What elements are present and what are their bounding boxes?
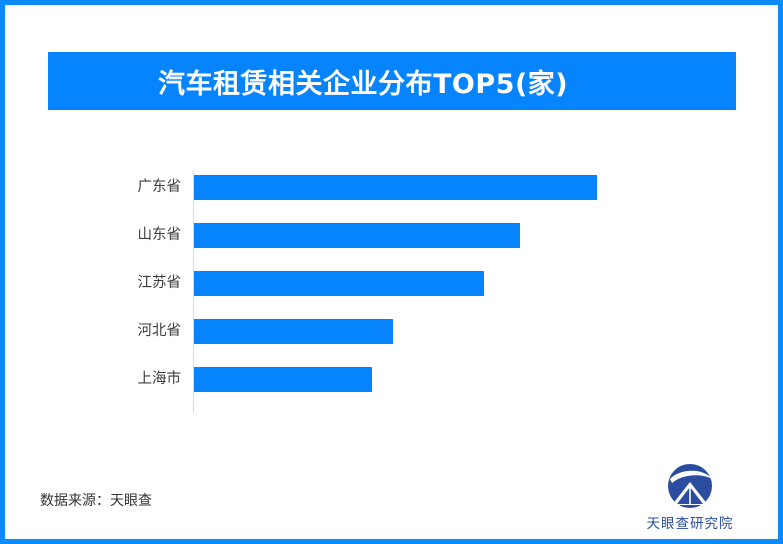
data-source-note: 数据来源：天眼查 [40, 490, 152, 510]
bar-track [194, 271, 484, 296]
frame-border-left [0, 0, 5, 544]
bar-fill[interactable] [194, 367, 372, 392]
bar-category-label: 山东省 [48, 223, 181, 248]
tianyancha-eye-logo-icon [664, 463, 716, 509]
bar-fill[interactable] [194, 319, 393, 344]
bar-track [194, 319, 393, 344]
bar-row: 山东省 [48, 223, 736, 248]
frame-border-right [778, 0, 783, 544]
bar-fill[interactable] [194, 223, 520, 248]
bar-category-label: 广东省 [48, 175, 181, 200]
bar-row: 上海市 [48, 367, 736, 392]
frame-border-top [0, 0, 783, 5]
bar-chart: 广东省山东省江苏省河北省上海市 [48, 160, 736, 410]
bar-track [194, 223, 520, 248]
infographic-root: 汽车租赁相关企业分布TOP5(家) 广东省山东省江苏省河北省上海市 数据来源：天… [0, 0, 783, 544]
bar-track [194, 367, 372, 392]
brand-name-label: 天眼查研究院 [647, 512, 734, 532]
bar-category-label: 河北省 [48, 319, 181, 344]
page-title: 汽车租赁相关企业分布TOP5(家) [158, 62, 568, 101]
bar-fill[interactable] [194, 271, 484, 296]
bar-row: 河北省 [48, 319, 736, 344]
brand-logo: 天眼查研究院 [625, 454, 755, 532]
bar-series-container: 广东省山东省江苏省河北省上海市 [48, 160, 736, 410]
bar-category-label: 上海市 [48, 367, 181, 392]
frame-border-bottom [0, 539, 783, 544]
chart-title-banner: 汽车租赁相关企业分布TOP5(家) [48, 52, 736, 110]
bar-fill[interactable] [194, 175, 597, 200]
bar-track [194, 175, 597, 200]
bar-row: 广东省 [48, 175, 736, 200]
bar-row: 江苏省 [48, 271, 736, 296]
bar-category-label: 江苏省 [48, 271, 181, 296]
